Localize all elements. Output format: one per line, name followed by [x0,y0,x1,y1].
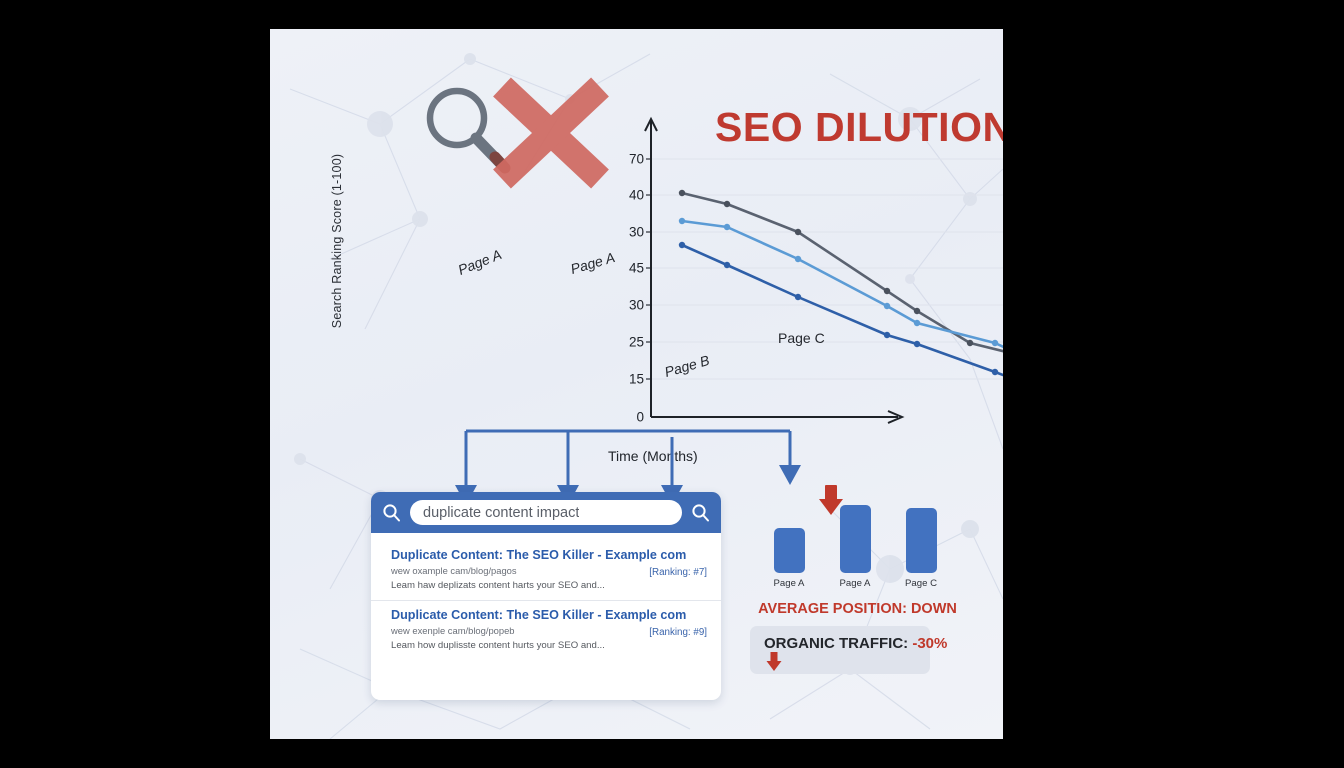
bar-column: Page C [897,508,945,589]
search-input-value[interactable]: duplicate content impact [423,505,579,521]
bar-label: Page A [774,578,805,589]
series-inline-label-page-c: Page C [778,330,825,346]
search-icon[interactable] [691,503,710,522]
search-input[interactable]: duplicate content impact [410,500,682,525]
bar-column: Page A [831,505,879,589]
list-item[interactable]: Duplicate Content: The SEO Killer - Exam… [371,600,721,660]
bar [906,508,937,573]
bar-group: Page A Page A Page C [760,494,950,589]
search-icon[interactable] [382,503,401,522]
search-bar[interactable]: duplicate content impact [371,492,721,533]
status-badge: [Ranking: #9] [649,627,707,638]
red-x-icon [480,79,640,189]
series-line-lightblue [682,221,1003,380]
screenshot-root: Search Ranking Score (1-100) 70 40 30 45… [0,0,1344,768]
page-title: SEO DILUTION [715,104,1003,151]
average-position-status: AVERAGE POSITION: DOWN [750,601,965,617]
bar-column: Page A [765,528,813,589]
search-results-panel[interactable]: duplicate content impact Duplicate Conte… [371,492,721,700]
organic-traffic-box: ORGANIC TRAFFIC: -30% [750,626,930,674]
gridlines [652,159,1003,379]
organic-traffic-label: ORGANIC TRAFFIC: [764,635,908,652]
bar-label: Page A [840,578,871,589]
status-badge: [Ranking: #7] [649,567,707,578]
organic-traffic-value: -30% [912,635,947,652]
result-snippet: Leam haw deplizats content harts your SE… [391,580,701,591]
title-block: SEO DILUTION [415,84,995,179]
result-snippet: Leam how duplisste content hurts your SE… [391,640,701,651]
list-item[interactable]: Duplicate Content: The SEO Killer - Exam… [371,541,721,600]
result-title[interactable]: Duplicate Content: The SEO Killer - Exam… [391,608,701,622]
red-down-arrow-icon [764,652,784,672]
infographic-canvas: Search Ranking Score (1-100) 70 40 30 45… [270,29,1003,739]
bar-label: Page C [905,578,937,589]
result-title[interactable]: Duplicate Content: The SEO Killer - Exam… [391,548,701,562]
series-points-darkblue [679,242,1003,404]
bar [774,528,805,573]
organic-traffic-line: ORGANIC TRAFFIC: -30% [764,635,947,652]
results-list: Duplicate Content: The SEO Killer - Exam… [371,533,721,666]
bar [840,505,871,573]
